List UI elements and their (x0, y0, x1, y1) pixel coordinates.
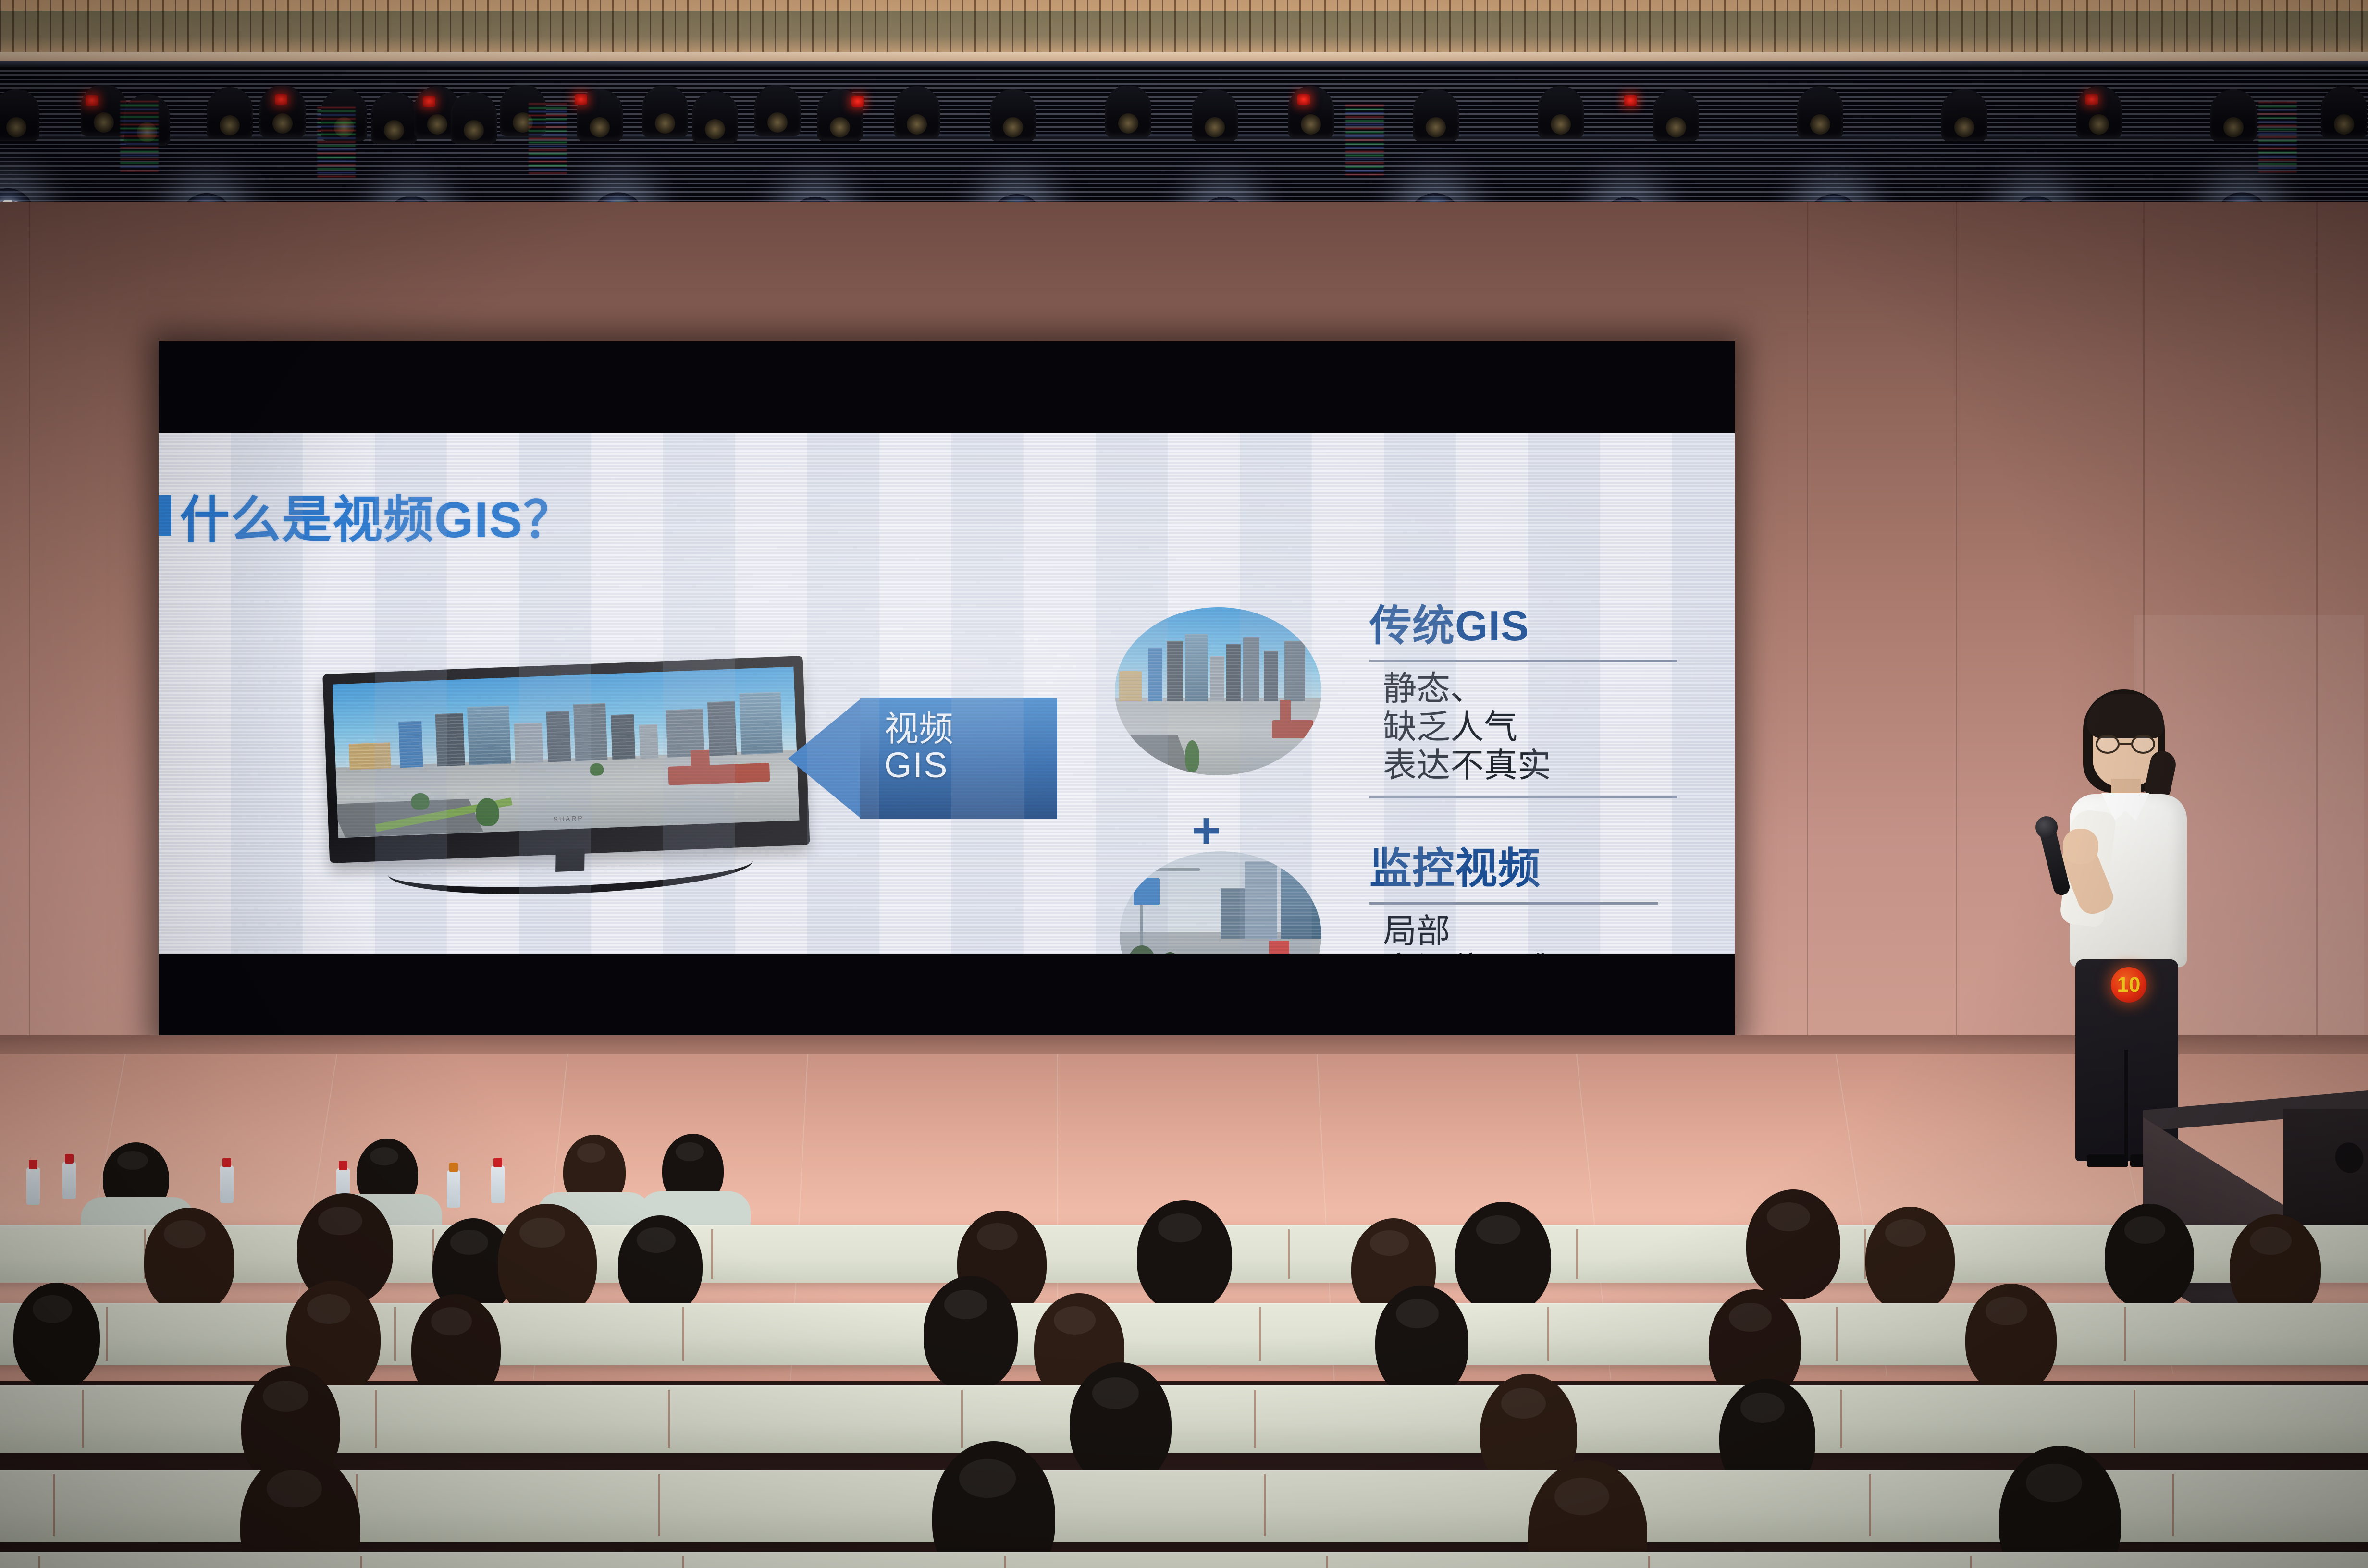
slide-title-row: 什么是视频GIS？ (159, 479, 574, 551)
audience-head (13, 1283, 100, 1388)
audience-head (924, 1276, 1018, 1390)
spotlight-fixture (894, 86, 940, 138)
heading-divider (1369, 660, 1677, 662)
truss-indicator-led (575, 94, 587, 105)
audience-head (498, 1204, 597, 1319)
audience-area (0, 1172, 2368, 1568)
page-title: 什么是视频GIS？ (180, 479, 574, 551)
spotlight-fixture (1538, 86, 1584, 138)
block-underline (1369, 796, 1677, 798)
presenter-leg-seam (2124, 1050, 2128, 1161)
spotlight-fixture (692, 91, 738, 143)
spotlight-fixture (1192, 89, 1238, 141)
plus-symbol: + (1192, 806, 1221, 856)
block-line: 静态、 (1369, 670, 1677, 708)
water-bottle (220, 1165, 234, 1203)
arrow-label: 视频 GIS (884, 712, 1043, 784)
surveillance-street-view (1120, 851, 1321, 954)
badge-number: 10 (2117, 974, 2141, 995)
presenter-speaker: 10 (2025, 685, 2218, 1170)
audience-head (932, 1441, 1055, 1568)
block-heading: 监控视频 (1369, 834, 1677, 895)
heading-divider (1369, 902, 1658, 905)
audience-head (144, 1208, 234, 1313)
spotlight-fixture (207, 87, 253, 139)
audience-head (1865, 1207, 1955, 1311)
spotlight-fixture (2321, 86, 2367, 138)
text-block-surveillance-video: 监控视频 局部 空间位置感不强 (1369, 834, 1677, 954)
spotlight-fixture (451, 92, 497, 144)
block-heading: 传统GIS (1369, 592, 1677, 653)
audience-head (618, 1215, 703, 1314)
spotlight-fixture (1941, 89, 1987, 141)
spotlight-fixture (1653, 89, 1699, 141)
presentation-slide: 什么是视频GIS？ (159, 433, 1735, 954)
water-bottle (491, 1165, 505, 1203)
spotlight-fixture (1797, 86, 1843, 138)
arrow-label-en: GIS (884, 747, 1043, 783)
audience-head (1455, 1202, 1551, 1313)
water-bottle (26, 1167, 40, 1205)
audience-head (1746, 1189, 1840, 1299)
truss-indicator-led (2085, 94, 2098, 105)
screen-bezel-bottom (159, 954, 1735, 1040)
spotlight-fixture (642, 86, 688, 137)
truss-indicator-led (1624, 95, 1637, 106)
ceiling-highlight-strip (0, 52, 2368, 62)
block-line: 空间位置感不强 (1369, 951, 1677, 954)
spotlight-fixture (259, 86, 306, 137)
spotlight-fixture (1288, 86, 1334, 138)
presenter-hair-front (2087, 694, 2164, 738)
audience-head (1999, 1446, 2121, 1568)
spotlight-fixture (1105, 86, 1151, 137)
truss-indicator-led (86, 95, 98, 106)
screen-bezel-top (159, 341, 1735, 433)
spotlight-fixture (371, 92, 417, 144)
ceiling-upper-band (0, 11, 2368, 53)
spotlight-fixture (754, 85, 801, 136)
arrow-head-left-icon (788, 698, 861, 819)
oval-traditional-gis (1115, 607, 1321, 775)
block-line: 表达不真实 (1369, 747, 1677, 785)
water-bottle (447, 1170, 460, 1208)
tv-cityscape-render (333, 667, 800, 838)
spotlight-fixture (0, 89, 39, 141)
audience-head (1137, 1200, 1232, 1311)
audience-head (1965, 1284, 2057, 1393)
seat-row (0, 1552, 2368, 1568)
seat-row (0, 1385, 2368, 1453)
spotlight-fixture (2210, 89, 2257, 141)
spotlight-fixture (2076, 86, 2122, 138)
truss-indicator-led (423, 96, 435, 107)
audience-head (2105, 1204, 2194, 1309)
presenter-hand (2063, 829, 2098, 864)
tv-brand-label: SHARP (553, 814, 584, 822)
presenter-shoe (2087, 1154, 2128, 1167)
led-video-wall: 什么是视频GIS？ (159, 341, 1735, 1040)
audience-head (1375, 1286, 1468, 1398)
auditorium-scene: 什么是视频GIS？ (0, 0, 2368, 1568)
arrow-label-cn: 视频 (884, 712, 1043, 747)
text-block-traditional-gis: 传统GIS 静态、 缺乏人气 表达不真实 (1369, 592, 1677, 798)
spotlight-fixture (1413, 89, 1459, 141)
title-bullet-bar-icon (159, 495, 171, 536)
audience-head (1070, 1362, 1172, 1485)
oval-surveillance-video (1120, 851, 1321, 954)
block-line: 局部 (1369, 912, 1677, 951)
block-line: 缺乏人气 (1369, 708, 1677, 747)
tv-monitor-image: SHARP (322, 656, 812, 905)
glasses-icon (2096, 735, 2155, 754)
truss-indicator-led (275, 94, 287, 105)
truss-indicator-led (1297, 94, 1310, 105)
video-gis-arrow: 视频 GIS (788, 698, 1057, 819)
contestant-number-badge: 10 (2111, 967, 2146, 1003)
water-bottle (62, 1162, 76, 1199)
spotlight-fixture (990, 89, 1036, 141)
truss-indicator-led (851, 96, 864, 107)
